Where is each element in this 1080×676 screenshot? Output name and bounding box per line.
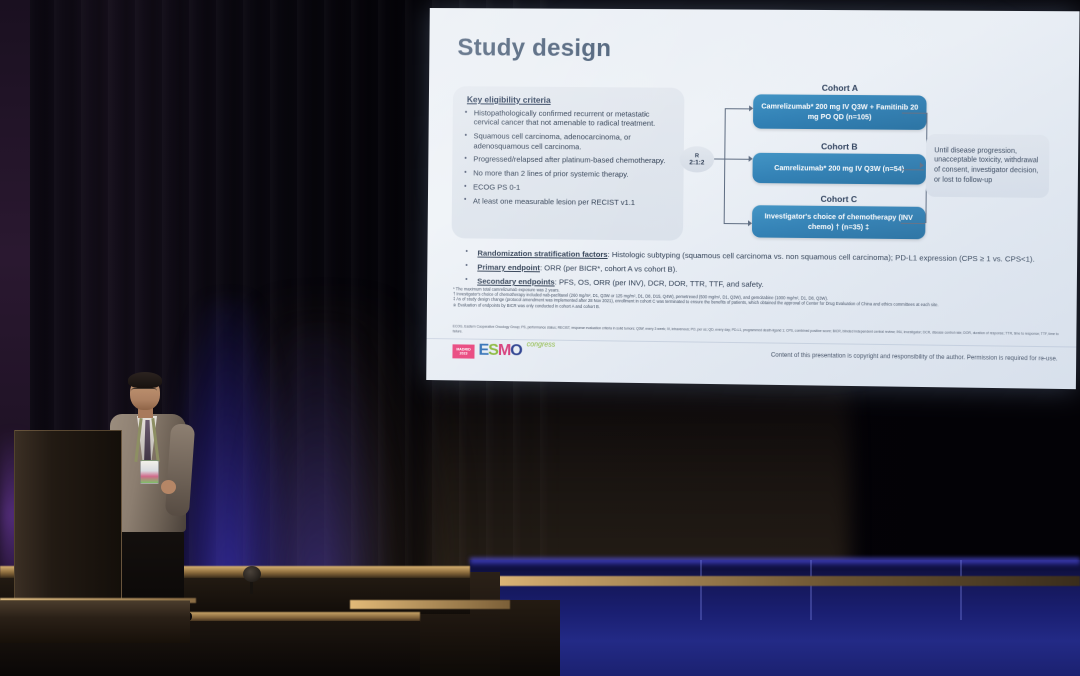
- list-item: At least one measurable lesion per RECIS…: [464, 196, 673, 207]
- list-item: Histopathologically confirmed recurrent …: [465, 108, 674, 128]
- conference-photo: ESMO congress MADRID SPAIN 20-24 OCTOBER…: [0, 0, 1080, 676]
- back-wall-light-strip: [470, 558, 1080, 566]
- connector-line: [724, 108, 726, 223]
- stage-edge-light-right: [468, 576, 1080, 586]
- copyright-notice: Content of this presentation is copyrigh…: [771, 353, 1058, 363]
- connector-line: [902, 113, 927, 114]
- list-item: Primary endpoint: ORR (per BICR*, cohort…: [455, 262, 1060, 278]
- podium-shelf: [0, 600, 190, 643]
- bullet-lead: Secondary endpoints: [477, 277, 555, 287]
- list-item: Randomization stratification factors: Hi…: [455, 248, 1060, 264]
- cohort-b-label: Cohort B: [753, 141, 926, 153]
- connector-line: [725, 108, 749, 109]
- arrow-icon: [920, 162, 924, 168]
- esmo-letter-o: O: [510, 342, 522, 359]
- podium: ESMO congress MADRID SPAIN 20-24 OCTOBER…: [14, 430, 122, 622]
- bullet-lead: Primary endpoint: [477, 263, 540, 273]
- slide-title: Study design: [457, 34, 611, 63]
- esmo-letter-e: E: [478, 342, 488, 359]
- cohort-c-box: Investigator's choice of chemotherapy (I…: [752, 205, 926, 239]
- cohort-a-box: Camrelizumab* 200 mg IV Q3W + Famitinib …: [753, 94, 927, 130]
- randomization-node: R 2:1:2: [680, 146, 715, 172]
- speaker-hand: [161, 480, 176, 494]
- list-item: Progressed/relapsed after platinum-based…: [464, 155, 673, 166]
- eligibility-card: Key eligibility criteria Histopathologic…: [452, 86, 685, 241]
- connector-line: [714, 158, 724, 159]
- eligibility-list: Histopathologically confirmed recurrent …: [464, 108, 674, 212]
- madrid-badge-icon: MADRID 2023: [452, 344, 474, 358]
- microphone-icon: [243, 566, 261, 582]
- connector-line: [724, 223, 748, 224]
- slide-footer-logo: MADRID 2023 ESMO congress: [452, 340, 573, 364]
- projection-screen: Study design Key eligibility criteria Hi…: [426, 8, 1079, 389]
- wall-seam: [810, 560, 812, 620]
- speaker-hair: [128, 372, 162, 388]
- esmo-logo: ESMO: [478, 342, 521, 361]
- treatment-duration-box: Until disease progression, unacceptable …: [926, 134, 1050, 198]
- connector-line: [901, 169, 924, 170]
- treatment-duration-text: Until disease progression, unacceptable …: [926, 146, 1050, 186]
- year-label: 2023: [459, 351, 467, 355]
- wall-seam: [700, 560, 702, 620]
- wall-seam: [960, 560, 962, 620]
- list-item: No more than 2 lines of prior systemic t…: [464, 169, 673, 180]
- speaker-badge: [140, 460, 159, 484]
- connector-line: [724, 159, 748, 160]
- stage-edge-light-mid: [350, 600, 510, 609]
- list-item: Squamous cell carcinoma, adenocarcinoma,…: [464, 131, 673, 152]
- cohort-b-text: Camrelizumab* 200 mg IV Q3W (n=54): [768, 163, 910, 174]
- cohort-c-text: Investigator's choice of chemotherapy (I…: [752, 211, 926, 233]
- cohort-a-text: Camrelizumab* 200 mg IV Q3W + Famitinib …: [753, 101, 927, 123]
- bullet-lead: Randomization stratification factors: [477, 249, 607, 259]
- eligibility-heading: Key eligibility criteria: [467, 94, 551, 105]
- congress-label: congress: [527, 341, 556, 348]
- bullet-rest: : Histologic subtyping (squamous cell ca…: [608, 250, 1035, 264]
- bullet-rest: : ORR (per BICR*, cohort A vs cohort B).: [540, 263, 678, 274]
- cohort-b-box: Camrelizumab* 200 mg IV Q3W (n=54): [752, 153, 926, 185]
- cohort-c-label: Cohort C: [752, 193, 925, 205]
- slide: Study design Key eligibility criteria Hi…: [426, 8, 1079, 389]
- esmo-letter-m: M: [498, 342, 511, 359]
- randomization-ratio: 2:1:2: [689, 159, 704, 166]
- list-item: ECOG PS 0-1: [464, 182, 673, 193]
- speaker-glasses: [131, 388, 157, 396]
- cohort-a-label: Cohort A: [753, 82, 926, 93]
